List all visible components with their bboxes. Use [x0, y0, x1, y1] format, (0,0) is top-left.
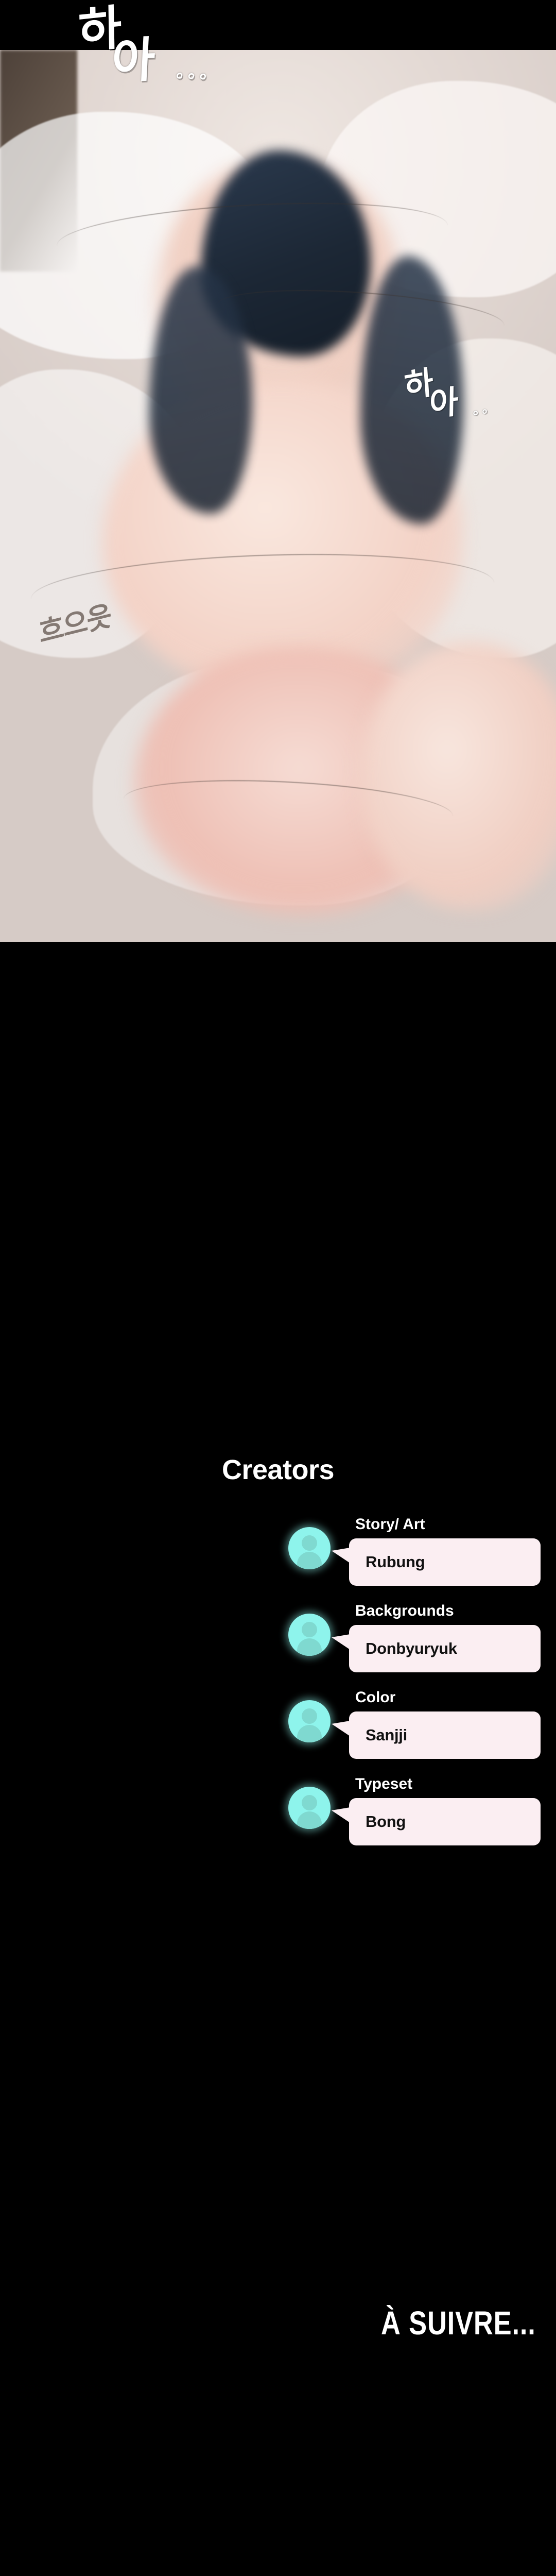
- credit-name-bubble: Rubung: [349, 1538, 541, 1586]
- bubble-tail: [332, 1721, 350, 1736]
- avatar-head: [302, 1535, 317, 1551]
- credit-role-label: Color: [355, 1689, 395, 1706]
- avatar-body: [297, 1725, 322, 1742]
- avatar-body: [297, 1811, 322, 1829]
- avatar-body: [297, 1638, 322, 1656]
- avatar-head: [302, 1708, 317, 1724]
- credit-row: Typeset Bong: [288, 1775, 546, 1860]
- artwork-panel: 하 아 。。 흐으읏 하 아 。。。: [0, 0, 556, 942]
- bubble-tail: [332, 1807, 350, 1823]
- credit-name: Rubung: [366, 1553, 425, 1571]
- avatar-body: [297, 1552, 322, 1569]
- creators-section: Creators Story/ Art Rubung Backgrounds D…: [0, 1437, 556, 1953]
- credit-name-bubble: Sanjji: [349, 1711, 541, 1759]
- credit-row: Backgrounds Donbyuryuk: [288, 1602, 546, 1687]
- credit-row: Color Sanjji: [288, 1689, 546, 1773]
- credit-row: Story/ Art Rubung: [288, 1516, 546, 1600]
- to-be-continued-text: À SUIVRE...: [100, 2304, 556, 2342]
- credit-name-bubble: Bong: [349, 1798, 541, 1845]
- avatar-icon: [288, 1787, 331, 1829]
- avatar-head: [302, 1795, 317, 1810]
- avatar-head: [302, 1622, 317, 1637]
- credit-role-label: Backgrounds: [355, 1602, 454, 1620]
- credit-role-label: Story/ Art: [355, 1516, 425, 1533]
- avatar-icon: [288, 1700, 331, 1742]
- bubble-tail: [332, 1634, 350, 1650]
- avatar-icon: [288, 1614, 331, 1656]
- credit-name: Sanjji: [366, 1726, 407, 1744]
- avatar-icon: [288, 1527, 331, 1569]
- bubble-tail: [332, 1548, 350, 1563]
- credit-name-bubble: Donbyuryuk: [349, 1625, 541, 1672]
- credit-role-label: Typeset: [355, 1775, 412, 1793]
- creators-title: Creators: [0, 1454, 556, 1486]
- credit-name: Donbyuryuk: [366, 1639, 457, 1658]
- artwork-canvas: 하 아 。。 흐으읏: [0, 50, 556, 942]
- credit-name: Bong: [366, 1812, 406, 1831]
